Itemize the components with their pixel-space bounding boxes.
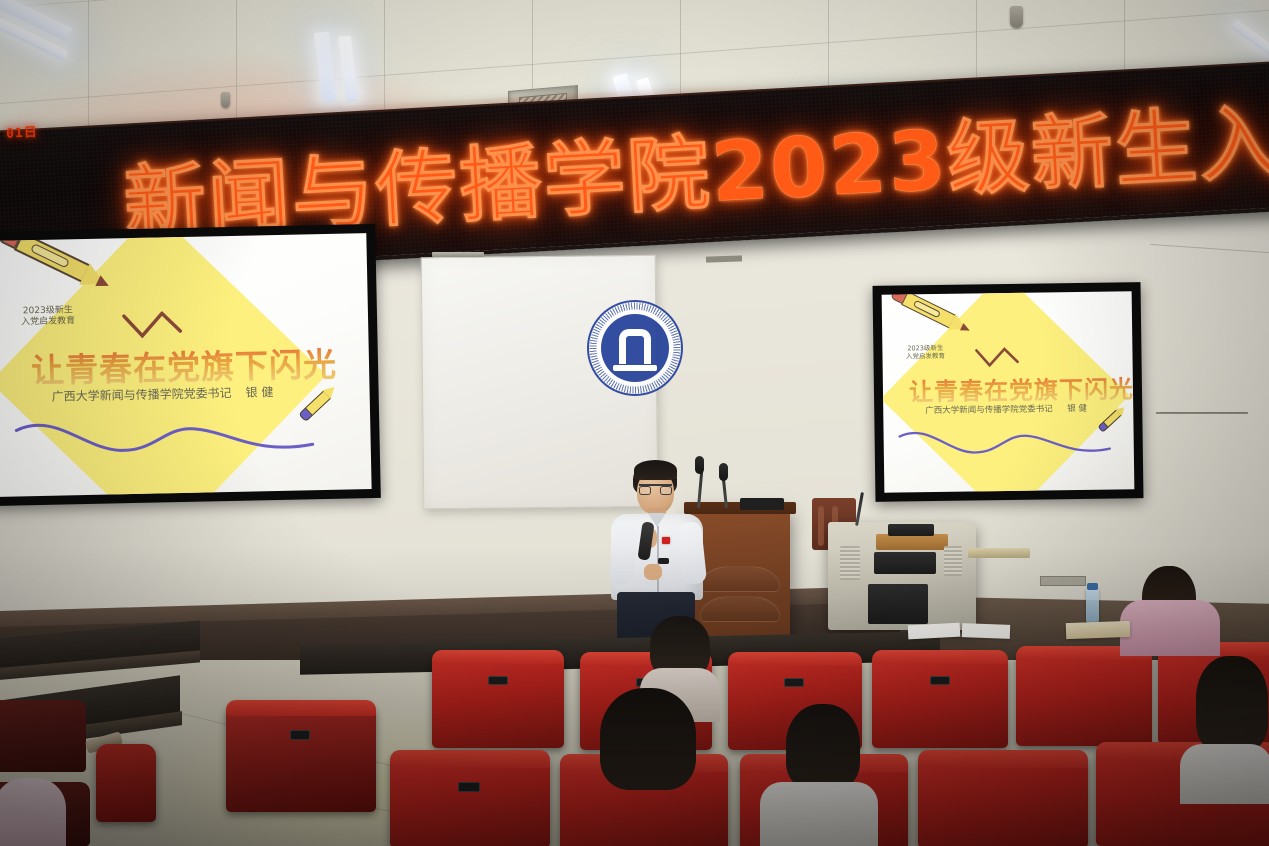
audience-body-front-right — [1120, 600, 1220, 656]
av-console-wood-top — [876, 534, 948, 550]
slide-subtitle-right: 广西大学新闻与传播学院党委书记 — [925, 402, 1053, 416]
slide-surface-left: 2023级新生 入党启发教育 让青春在党旗下闪光 广西大学新闻与传播学院党委书记… — [0, 233, 372, 497]
slide-squiggle-top-right — [974, 347, 1020, 370]
seat-mid-1-top — [226, 700, 376, 716]
lectern-top — [684, 502, 796, 514]
seat-row1-3-top — [728, 652, 862, 666]
speaker-party-badge — [662, 537, 670, 544]
slide-tag-line2: 入党启发教育 — [10, 316, 86, 329]
wall-seam-2 — [1160, 412, 1246, 413]
school-emblem — [587, 300, 683, 396]
led-date-ticker: 01日 — [6, 121, 39, 142]
slide-speaker-left: 银 健 — [245, 383, 273, 401]
seat-number-plate-7 — [290, 730, 310, 740]
podium-mic-head-2 — [719, 463, 728, 481]
seat-number-plate-4 — [930, 676, 950, 685]
slide-speaker-right: 银 健 — [1067, 402, 1087, 414]
speaker-wristwatch — [658, 558, 669, 564]
wooden-chair-slat — [818, 506, 824, 546]
seat-number-plate-5 — [458, 782, 480, 792]
seat-number-plate-3 — [784, 678, 804, 687]
slide-pencil-large-right — [888, 291, 980, 343]
audience-head-3 — [786, 704, 860, 790]
slide-squiggle-top-left — [122, 311, 185, 340]
audience-body-front-left — [0, 778, 66, 846]
speaker-hair-top — [634, 460, 677, 480]
lecture-hall-photo: 新闻与传播学院2023级新生入党启发教育 01日 2023级新生 入党启发教育 … — [0, 0, 1269, 846]
audience-body-3 — [760, 782, 878, 846]
av-console-lower-panel — [868, 584, 928, 624]
projection-screen-left: 2023级新生 入党启发教育 让青春在党旗下闪光 广西大学新闻与传播学院党委书记… — [0, 224, 381, 506]
audience-head-4 — [1196, 656, 1268, 752]
seat-row1-1-top — [432, 650, 564, 664]
av-console-monitor — [888, 524, 934, 536]
av-console-drawer — [874, 552, 936, 574]
emblem-glyph — [619, 329, 652, 364]
speaker-other-hand — [644, 564, 662, 580]
speaker-glasses — [639, 484, 672, 494]
projection-screen-right: 2023级新生 入党启发教育 让青春在党旗下闪光 广西大学新闻与传播学院党委书记… — [873, 282, 1144, 502]
seat-number-plate-1 — [488, 676, 508, 685]
emblem-book-bar — [613, 365, 657, 371]
smoke-detector-2 — [221, 92, 230, 108]
slide-tag-left: 2023级新生 入党启发教育 — [10, 305, 86, 329]
seat-row1-1[interactable] — [432, 652, 564, 748]
seat-mid-1[interactable] — [226, 702, 376, 812]
slide-tag-right: 2023级新生 入党启发教育 — [896, 344, 954, 361]
audience-head-2 — [600, 688, 696, 790]
slide-wave-right — [897, 424, 1112, 467]
seat-row2-4-top — [918, 750, 1088, 768]
slide-pencil-large-left — [0, 233, 123, 302]
slide-title-right: 让青春在党旗下闪光 — [909, 369, 1134, 407]
seat-row1-4-top — [872, 650, 1008, 664]
podium-mic-head-1 — [695, 456, 704, 474]
lectern-front-panel-1 — [700, 566, 780, 592]
seat-row1-4[interactable] — [872, 652, 1008, 748]
emblem-disc — [601, 314, 669, 382]
seat-row1-5[interactable] — [1016, 648, 1152, 746]
slide-surface-right: 2023级新生 入党启发教育 让青春在党旗下闪光 广西大学新闻与传播学院党委书记… — [882, 291, 1135, 492]
slide-tag-line2-right: 入党启发教育 — [896, 352, 954, 361]
audience-body-4 — [1180, 744, 1269, 804]
seat-left-red-1[interactable] — [96, 744, 156, 822]
smoke-detector-1 — [1010, 6, 1023, 28]
seat-left-far[interactable] — [0, 700, 86, 772]
av-side-table — [968, 548, 1030, 558]
seat-row2-1-top — [390, 750, 550, 768]
lectern-front-panel-2 — [700, 596, 780, 622]
whiteboard-top-rail — [432, 252, 484, 257]
slide-wave-left — [14, 410, 315, 468]
